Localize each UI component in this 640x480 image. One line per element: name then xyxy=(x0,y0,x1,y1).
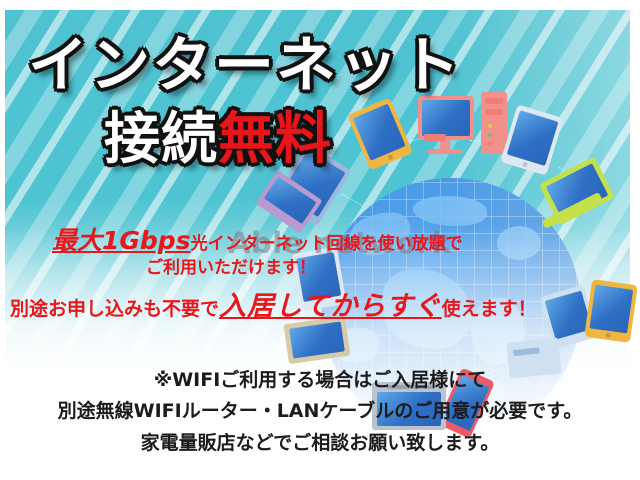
tablet-icon xyxy=(584,279,638,343)
note-line-3: 家電量販店などでご相談お願い致します。 xyxy=(0,428,640,455)
tower-led xyxy=(488,124,492,128)
tower-drive-bay xyxy=(485,98,503,104)
printer-paper-slot xyxy=(513,347,539,356)
tower-led xyxy=(488,133,492,137)
monitor-screen xyxy=(422,100,470,136)
promo-line-1: 最大1Gbps光インターネット回線を使い放題で xyxy=(52,221,463,257)
internet-free-poster: Able network インターネット 接続無料 最大1Gbps光インターネッ… xyxy=(0,0,640,480)
tablet-screen xyxy=(507,110,559,166)
promo-line-3-emphasis: 入居してからすぐ xyxy=(219,291,442,322)
page-title: インターネット xyxy=(28,36,462,96)
monitor-stand-base xyxy=(428,149,462,154)
promo-line-2: ご利用いただけます！ xyxy=(146,253,316,278)
tower-drive-bay xyxy=(485,109,503,115)
tower-led xyxy=(488,142,492,146)
subtitle-red-part: 無料 xyxy=(218,107,332,172)
promo-line-3-tail: 使えます！ xyxy=(442,298,537,320)
promo-line-3-lead: 別途お申し込みも不要で xyxy=(10,298,219,320)
page-subtitle: 接続無料 xyxy=(104,112,332,168)
tablet-home-button xyxy=(387,154,394,161)
promo-speed-value: 最大1Gbps xyxy=(52,226,191,255)
note-line-2: 別途無線WIFIルーター・LANケーブルのご用意が必要です。 xyxy=(0,396,640,423)
note-line-1: ※WIFIご利用する場合はご入居様にて xyxy=(0,365,640,392)
laptop-screen xyxy=(289,322,345,359)
subtitle-white-part: 接続 xyxy=(104,107,218,172)
keyboard-icon xyxy=(424,134,446,141)
promo-line-3: 別途お申し込みも不要で入居してからすぐ使えます！ xyxy=(10,284,537,323)
promo-line-1-rest: 光インターネット回線を使い放題で xyxy=(191,234,463,254)
pc-tower-icon xyxy=(481,92,507,154)
laptop-icon xyxy=(284,316,351,364)
tablet-screen xyxy=(589,285,633,334)
tablet-home-button xyxy=(605,332,611,338)
tablet-home-button xyxy=(521,161,527,167)
